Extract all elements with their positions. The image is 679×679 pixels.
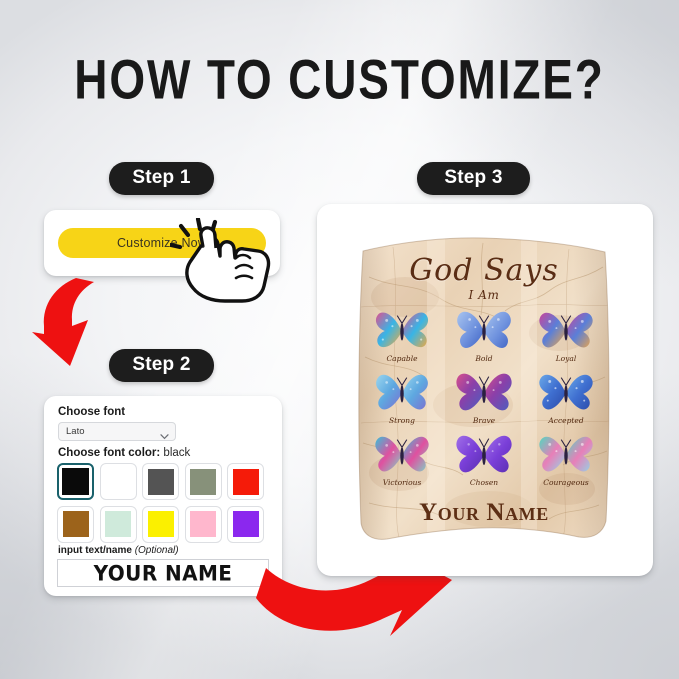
- step-3-card: God Says I Am Capable Bold: [317, 204, 653, 576]
- butterfly-icon: [361, 425, 443, 477]
- butterfly-word: Capable: [361, 354, 443, 363]
- butterfly-word: Accepted: [525, 416, 607, 425]
- swatch-fill: [148, 469, 174, 495]
- product-name-placeholder: Your Name: [353, 499, 615, 527]
- step-2-card: Choose font Lato Choose font color: blac…: [44, 396, 282, 596]
- butterfly-row-3: Victorious Chosen Courageous: [361, 425, 607, 487]
- butterfly-word: Victorious: [361, 478, 443, 487]
- color-swatch-row-1: [57, 463, 271, 500]
- butterfly-row-2: Strong Brave Accepted: [361, 363, 607, 425]
- color-swatch-sage-green[interactable]: [185, 463, 222, 500]
- butterfly-grid: Capable Bold Loyal: [361, 301, 607, 487]
- butterfly-item: Brave: [443, 363, 525, 425]
- color-swatch-red[interactable]: [227, 463, 264, 500]
- pointing-hand-icon: [170, 218, 275, 304]
- step-3-badge: Step 3: [417, 162, 530, 195]
- color-swatch-white[interactable]: [100, 463, 137, 500]
- color-swatch-grid: [57, 463, 271, 548]
- butterfly-icon: [361, 363, 443, 415]
- color-swatch-brown[interactable]: [57, 506, 94, 543]
- color-swatch-pink[interactable]: [185, 506, 222, 543]
- butterfly-word: Brave: [443, 416, 525, 425]
- butterfly-icon: [525, 425, 607, 477]
- swatch-fill: [190, 511, 216, 537]
- swatch-fill: [233, 511, 259, 537]
- color-swatch-dark-gray[interactable]: [142, 463, 179, 500]
- color-swatch-mint[interactable]: [100, 506, 137, 543]
- butterfly-word: Courageous: [525, 478, 607, 487]
- product-blanket: God Says I Am Capable Bold: [353, 237, 615, 547]
- swatch-fill: [190, 469, 216, 495]
- swatch-fill: [62, 468, 89, 495]
- butterfly-item: Strong: [361, 363, 443, 425]
- color-swatch-black[interactable]: [57, 463, 94, 500]
- page-title: HOW TO CUSTOMIZE?: [27, 47, 652, 112]
- color-swatch-yellow[interactable]: [142, 506, 179, 543]
- butterfly-icon: [443, 363, 525, 415]
- input-name-label-text: input text/name: [58, 545, 132, 556]
- arrow-step1-to-step2: [30, 276, 150, 368]
- input-name-label: input text/name (Optional): [58, 545, 179, 556]
- butterfly-icon: [443, 425, 525, 477]
- font-select-value: Lato: [66, 426, 85, 437]
- butterfly-word: Strong: [361, 416, 443, 425]
- input-name-label-note: (Optional): [135, 545, 179, 556]
- butterfly-item: Accepted: [525, 363, 607, 425]
- color-swatch-row-2: [57, 506, 271, 543]
- swatch-fill: [148, 511, 174, 537]
- butterfly-icon: [525, 363, 607, 415]
- color-label-value: black: [163, 447, 190, 459]
- swatch-fill: [233, 469, 259, 495]
- name-input-value: YOUR NAME: [94, 560, 233, 586]
- font-select[interactable]: Lato: [58, 422, 176, 441]
- chevron-down-icon: [160, 428, 169, 437]
- butterfly-icon: [443, 301, 525, 353]
- step-1-badge: Step 1: [109, 162, 214, 195]
- butterfly-row-1: Capable Bold Loyal: [361, 301, 607, 363]
- butterfly-word: Chosen: [443, 478, 525, 487]
- name-input[interactable]: YOUR NAME: [57, 559, 269, 587]
- butterfly-icon: [361, 301, 443, 353]
- choose-font-label: Choose font: [58, 406, 125, 418]
- butterfly-item: Capable: [361, 301, 443, 363]
- butterfly-item: Courageous: [525, 425, 607, 487]
- butterfly-item: Chosen: [443, 425, 525, 487]
- choose-font-color-label: Choose font color: black: [58, 447, 190, 459]
- product-subtitle: I Am: [353, 288, 615, 302]
- butterfly-icon: [525, 301, 607, 353]
- butterfly-item: Bold: [443, 301, 525, 363]
- swatch-fill: [105, 469, 131, 495]
- butterfly-word: Loyal: [525, 354, 607, 363]
- swatch-fill: [105, 511, 131, 537]
- butterfly-item: Loyal: [525, 301, 607, 363]
- swatch-fill: [63, 511, 89, 537]
- butterfly-word: Bold: [443, 354, 525, 363]
- butterfly-item: Victorious: [361, 425, 443, 487]
- product-title: God Says: [353, 253, 615, 288]
- color-label-text: Choose font color:: [58, 447, 160, 459]
